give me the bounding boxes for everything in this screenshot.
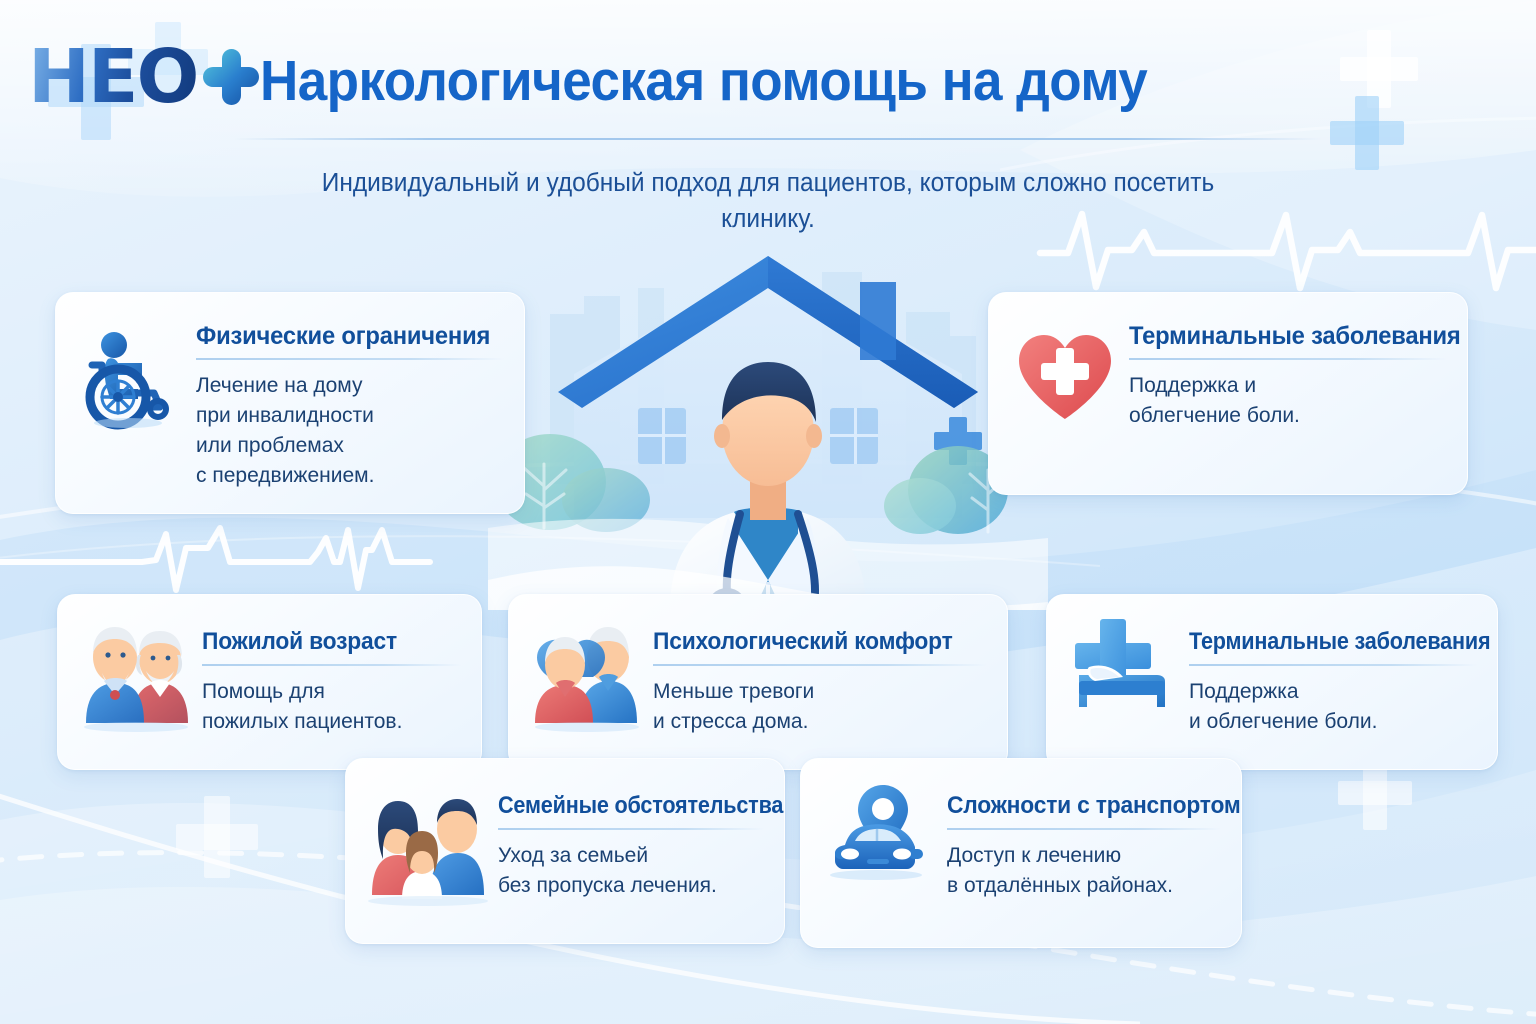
infographic-canvas: HEO Наркологическая помощь на дому Индив… [0,0,1536,1024]
card-physical-limitations[interactable]: Физические ограничения Лечение на дому п… [55,292,525,514]
page-title: Наркологическая помощь на дому [260,48,1147,114]
card-description: Поддержка и облегчение боли. [1189,677,1477,737]
card-divider [196,358,504,360]
card-divider [1129,358,1447,360]
header: HEO Наркологическая помощь на дому Индив… [0,0,1536,240]
card-description: Помощь для пожилых пациентов. [202,677,461,737]
brand-logo[interactable]: HEO [28,40,259,114]
card-title: Психологический комфорт [653,627,970,657]
card-description: Доступ к лечению в отдалённых районах. [947,841,1221,901]
card-body: Физические ограничения Лечение на дому п… [196,313,504,491]
car-location-pin-icon [819,779,941,901]
card-title: Терминальные заболевания [1189,627,1448,657]
page-subtitle: Индивидуальный и удобный подход для паци… [288,165,1248,237]
card-body: Сложности с транспортом Доступ к лечению… [947,779,1221,901]
brand-logo-text: HEO [28,40,197,114]
card-body: Пожилой возраст Помощь для пожилых пацие… [202,615,461,737]
card-divider [498,828,764,830]
title-divider [232,138,1322,140]
doctor-at-home-illustration [488,250,1048,610]
card-terminal-illness-heart[interactable]: Терминальные заболевания Поддержка и обл… [988,292,1468,495]
card-family-circumstances[interactable]: Семейные обстоятельства Уход за семьей б… [345,758,785,944]
card-title: Терминальные заболевания [1129,321,1431,351]
card-divider [202,664,461,666]
heart-cross-icon [1007,319,1123,435]
wheelchair-icon [74,319,190,435]
card-title: Семейные обстоятельства [498,791,737,821]
card-divider [653,664,987,666]
card-title: Сложности с транспортом [947,791,1207,821]
card-description: Уход за семьей без пропуска лечения. [498,841,764,901]
card-description: Лечение на дому при инвалидности или про… [196,371,504,491]
family-icon [364,779,492,907]
plus-icon [203,49,259,105]
card-description: Поддержка и облегчение боли. [1129,371,1447,431]
card-body: Терминальные заболевания Поддержка и обл… [1129,313,1447,431]
two-people-icon [527,615,647,735]
medical-cross-icon [176,796,258,878]
card-body: Терминальные заболевания Поддержка и обл… [1189,615,1477,737]
card-divider [947,828,1221,830]
card-description: Меньше тревоги и стресса дома. [653,677,987,737]
card-divider [1189,664,1477,666]
elderly-couple-icon [76,615,196,735]
card-body: Семейные обстоятельства Уход за семьей б… [498,779,764,901]
hospital-bed-cross-icon [1065,615,1183,733]
card-body: Психологический комфорт Меньше тревоги и… [653,615,987,737]
card-terminal-illness-bed[interactable]: Терминальные заболевания Поддержка и обл… [1046,594,1498,770]
card-transport-difficulties[interactable]: Сложности с транспортом Доступ к лечению… [800,758,1242,948]
card-title: Физические ограничения [196,321,489,351]
card-psychological-comfort[interactable]: Психологический комфорт Меньше тревоги и… [508,594,1008,770]
hero-svg [488,250,1048,610]
heartbeat-line-icon [0,528,430,590]
card-elderly-age[interactable]: Пожилой возраст Помощь для пожилых пацие… [57,594,482,770]
card-title: Пожилой возраст [202,627,448,657]
